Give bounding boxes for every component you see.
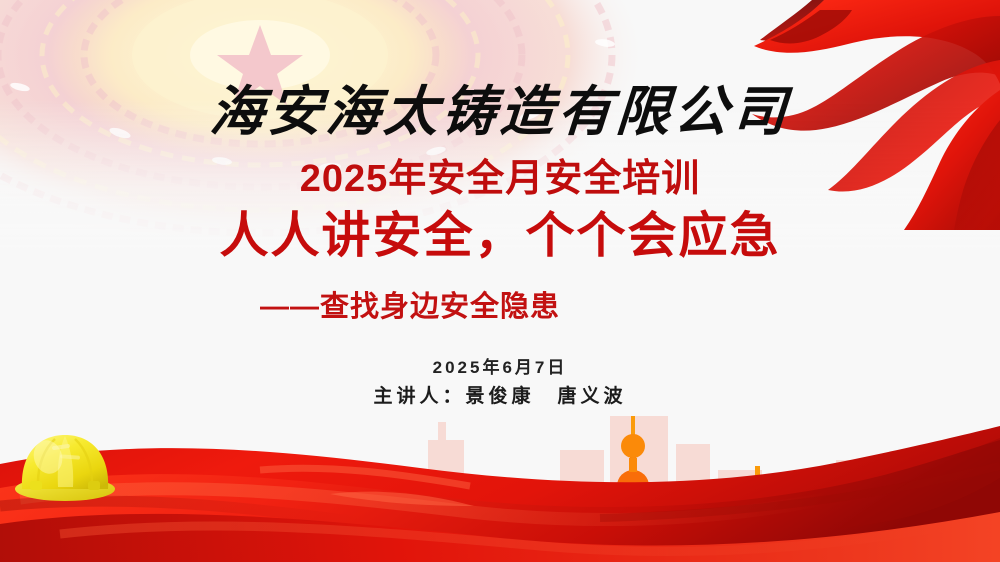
company-name-title: 海安海太铸造有限公司 xyxy=(0,82,1000,142)
slogan-tagline: ——查找身边安全隐患 xyxy=(0,289,1000,325)
main-slogan: 人人讲安全，个个会应急 xyxy=(0,207,1000,265)
presentation-slide: 海安海太铸造有限公司 2025年安全月安全培训 人人讲安全，个个会应急 ——查找… xyxy=(0,0,1000,562)
presentation-date: 2025年6月7日 xyxy=(0,356,1000,380)
presenter-names: 主讲人：景俊康 唐义波 xyxy=(0,384,1000,410)
slide-text-content: 海安海太铸造有限公司 2025年安全月安全培训 人人讲安全，个个会应急 ——查找… xyxy=(0,0,1000,562)
training-subtitle: 2025年安全月安全培训 xyxy=(0,157,1000,201)
